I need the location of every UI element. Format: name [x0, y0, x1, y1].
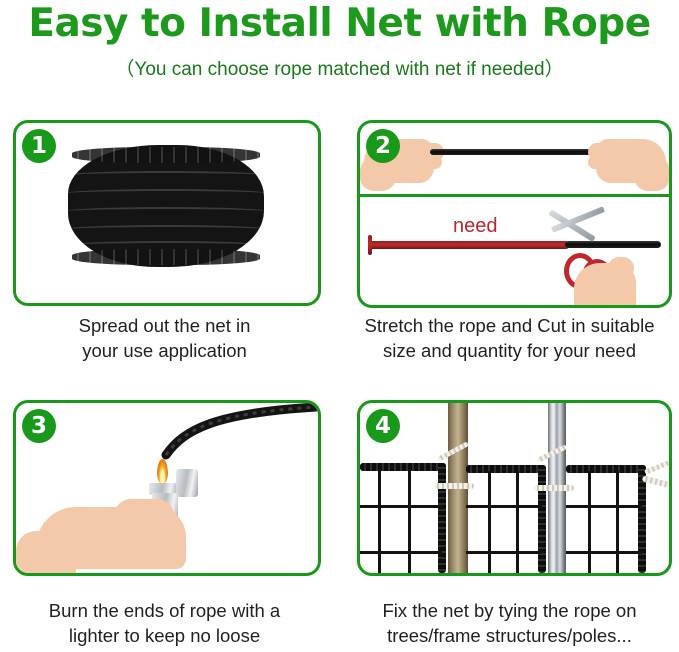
- step-number-badge-3: 3: [22, 409, 56, 443]
- step-4-caption: Fix the net by tying the rope on trees/f…: [340, 598, 679, 648]
- page-subtitle: （You can choose rope matched with net if…: [0, 58, 679, 82]
- red-measured-rope: [369, 241, 569, 249]
- lighter-flame: [157, 459, 168, 484]
- step-3-image-frame: [13, 400, 321, 576]
- step-panel-2: need 2: [357, 120, 666, 302]
- step-4-image-frame: [357, 400, 672, 576]
- step-3-caption: Burn the ends of rope with a lighter to …: [0, 598, 329, 648]
- black-rope-remainder: [565, 241, 661, 248]
- black-rope-stretched: [430, 149, 602, 155]
- step-number-badge-4: 4: [366, 409, 400, 443]
- step-1-caption-line-2: your use application: [0, 338, 329, 363]
- step-panel-1: 1: [13, 120, 315, 300]
- step-panel-4: 4: [357, 400, 666, 570]
- step-4-caption-line-2: trees/frame structures/poles...: [340, 623, 679, 648]
- step-1-caption-line-1: Spread out the net in: [0, 313, 329, 338]
- step-3-caption-line-2: lighter to keep no loose: [0, 623, 329, 648]
- step-2-caption: Stretch the rope and Cut in suitable siz…: [340, 313, 679, 363]
- net-section-left: [360, 463, 456, 573]
- step-2-caption-line-1: Stretch the rope and Cut in suitable: [340, 313, 679, 338]
- step-1-image-frame: [13, 120, 321, 306]
- tie-rope-right-knot-2: [644, 460, 670, 474]
- need-annotation-label: need: [453, 215, 498, 238]
- step-number-badge-1: 1: [22, 129, 56, 163]
- step-2-image-frame-bottom: need: [357, 194, 672, 308]
- net-bundle-illustration: [68, 145, 264, 267]
- step-2-caption-line-2: size and quantity for your need: [340, 338, 679, 363]
- rope-end-cap: [368, 235, 372, 255]
- step-2-image-frame-top: [357, 120, 672, 198]
- page-title: Easy to Install Net with Rope: [0, 2, 679, 46]
- step-panel-3: 3: [13, 400, 315, 570]
- step-1-caption: Spread out the net in your use applicati…: [0, 313, 329, 363]
- step-3-caption-line-1: Burn the ends of rope with a: [0, 598, 329, 623]
- step-4-caption-line-1: Fix the net by tying the rope on: [340, 598, 679, 623]
- step-number-badge-2: 2: [366, 129, 400, 163]
- net-section-middle: [466, 465, 556, 573]
